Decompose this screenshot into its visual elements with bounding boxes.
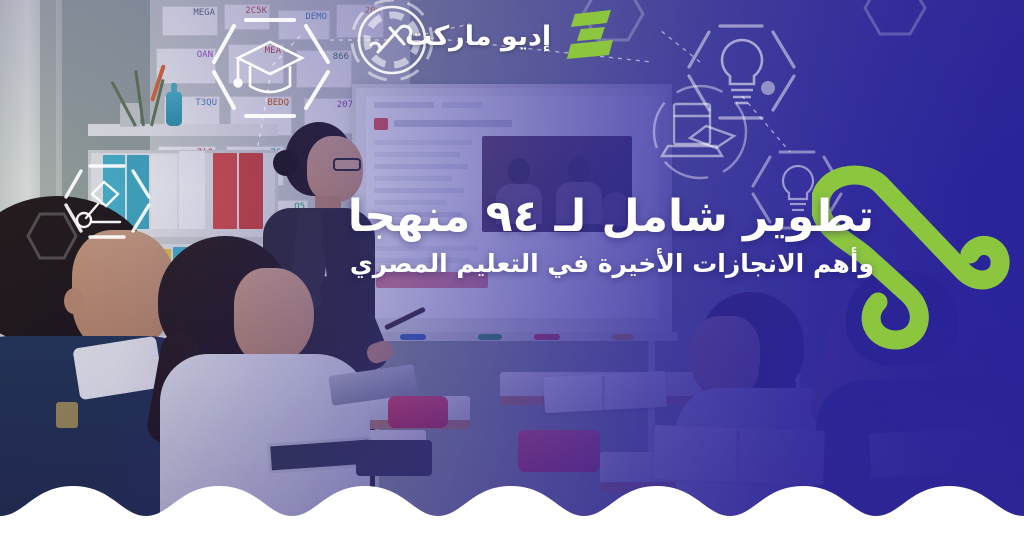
hero-banner: MEGA 2C5K DEMO 20x OAN MEA 866 T3QU BEDQ… <box>0 0 1024 536</box>
three-green-slashes-logo-icon <box>561 10 619 62</box>
book-laptop-icon <box>654 86 746 178</box>
hero-text-block: تطوير شامل لـ ٩٤ منهجا وأهم الانجازات ال… <box>348 192 874 278</box>
hero-headline: تطوير شامل لـ ٩٤ منهجا <box>348 192 874 241</box>
brand-logo[interactable]: إديو ماركت <box>405 10 619 62</box>
bottom-wave-border <box>0 472 1024 536</box>
brand-name: إديو ماركت <box>405 21 551 52</box>
microscope-icon <box>66 166 149 237</box>
hero-subheadline: وأهم الانجازات الأخيرة في التعليم المصري <box>348 249 874 278</box>
graduation-cap-icon <box>214 20 328 116</box>
